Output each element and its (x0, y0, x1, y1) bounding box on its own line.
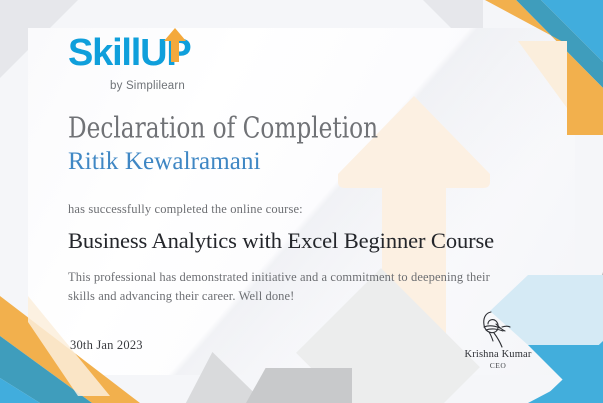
issue-date: 30th Jan 2023 (70, 338, 143, 353)
course-title: Business Analytics with Excel Beginner C… (68, 228, 494, 254)
commendation-paragraph: This professional has demonstrated initi… (68, 268, 508, 307)
certificate-document: SkillUP by Simplilearn Declaration of Co… (0, 0, 603, 403)
signatory-name: Krishna Kumar (438, 349, 558, 360)
brand-wordmark: SkillUP (68, 34, 308, 76)
signature-block: Krishna Kumar CEO (438, 308, 558, 370)
recipient-name: Ritik Kewalramani (68, 148, 261, 176)
handwritten-signature-icon (438, 308, 558, 348)
brand-tagline: by Simplilearn (110, 80, 308, 92)
up-arrow-icon (164, 28, 186, 62)
completion-lead-line: has successfully completed the online co… (68, 202, 303, 217)
brand-logo: SkillUP by Simplilearn (68, 34, 308, 92)
declaration-heading: Declaration of Completion (68, 112, 378, 145)
signatory-role: CEO (438, 361, 558, 370)
